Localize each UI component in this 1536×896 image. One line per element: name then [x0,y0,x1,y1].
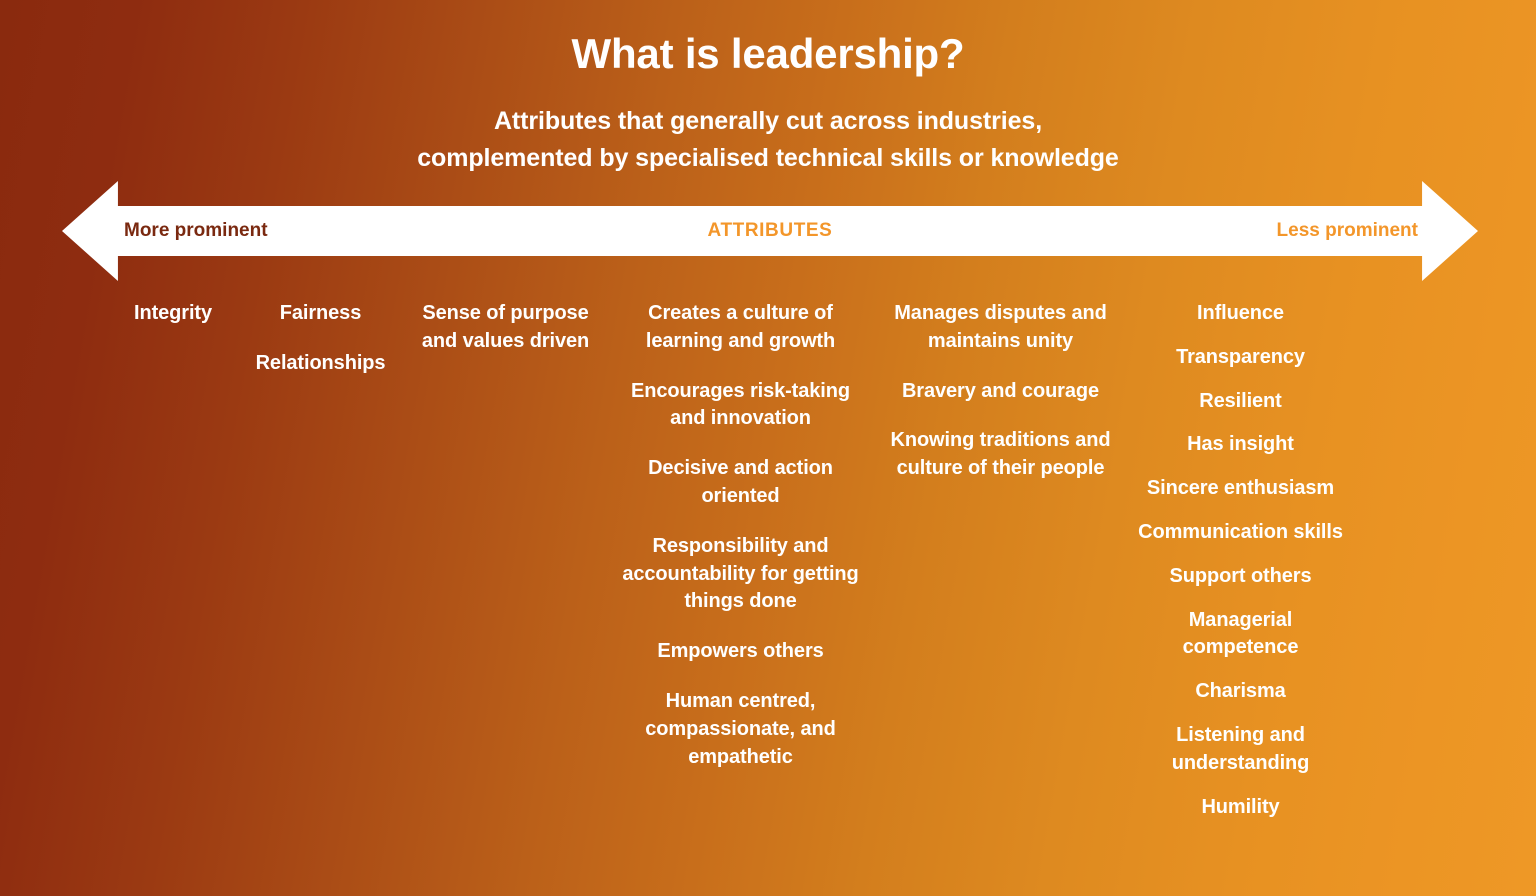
attribute-item: Sense of purpose and values driven [407,300,604,356]
attribute-column-1: Integrity [108,300,238,328]
attribute-item: Influence [1134,300,1347,328]
page-subtitle: Attributes that generally cut across ind… [0,103,1536,177]
attribute-item: Fairness [242,300,399,328]
arrow-label-row: More prominent ATTRIBUTES Less prominent [118,206,1422,256]
attribute-item: Encourages risk-taking and innovation [614,378,867,434]
attribute-column-5: Manages disputes and maintains unityBrav… [873,300,1128,483]
attribute-columns: IntegrityFairnessRelationshipsSense of p… [108,300,1428,821]
attribute-column-2: FairnessRelationships [238,300,403,378]
attribute-item: Sincere enthusiasm [1134,475,1347,503]
subtitle-line-2: complemented by specialised technical sk… [0,140,1536,177]
arrow-label-more-prominent: More prominent [118,220,268,242]
attribute-item: Resilient [1134,388,1347,416]
arrow-label-less-prominent: Less prominent [1277,220,1422,242]
slide-canvas: What is leadership? Attributes that gene… [0,0,1536,896]
attribute-column-4: Creates a culture of learning and growth… [608,300,873,771]
attribute-item: Empowers others [614,638,867,666]
title-block: What is leadership? Attributes that gene… [0,30,1536,177]
attribute-item: Transparency [1134,344,1347,372]
attribute-item: Manages disputes and maintains unity [879,300,1122,356]
attribute-column-3: Sense of purpose and values driven [403,300,608,356]
attribute-item: Humility [1134,794,1347,822]
attribute-item: Decisive and action oriented [614,455,867,511]
subtitle-line-1: Attributes that generally cut across ind… [0,103,1536,140]
attribute-item: Creates a culture of learning and growth [614,300,867,356]
attribute-item: Managerial competence [1134,607,1347,663]
attribute-item: Charisma [1134,678,1347,706]
page-title: What is leadership? [0,30,1536,77]
attribute-item: Human centred, compassionate, and empath… [614,688,867,771]
attribute-item: Responsibility and accountability for ge… [614,533,867,616]
attribute-item: Communication skills [1134,519,1347,547]
prominence-arrow: More prominent ATTRIBUTES Less prominent [62,181,1478,281]
attribute-item: Bravery and courage [879,378,1122,406]
attribute-column-6: InfluenceTransparencyResilientHas insigh… [1128,300,1353,821]
attribute-item: Integrity [110,300,236,328]
attribute-item: Has insight [1134,431,1347,459]
attribute-item: Support others [1134,563,1347,591]
attribute-item: Knowing traditions and culture of their … [879,427,1122,483]
attribute-item: Relationships [242,350,399,378]
attribute-item: Listening and understanding [1134,722,1347,778]
arrow-label-attributes: ATTRIBUTES [708,220,833,242]
